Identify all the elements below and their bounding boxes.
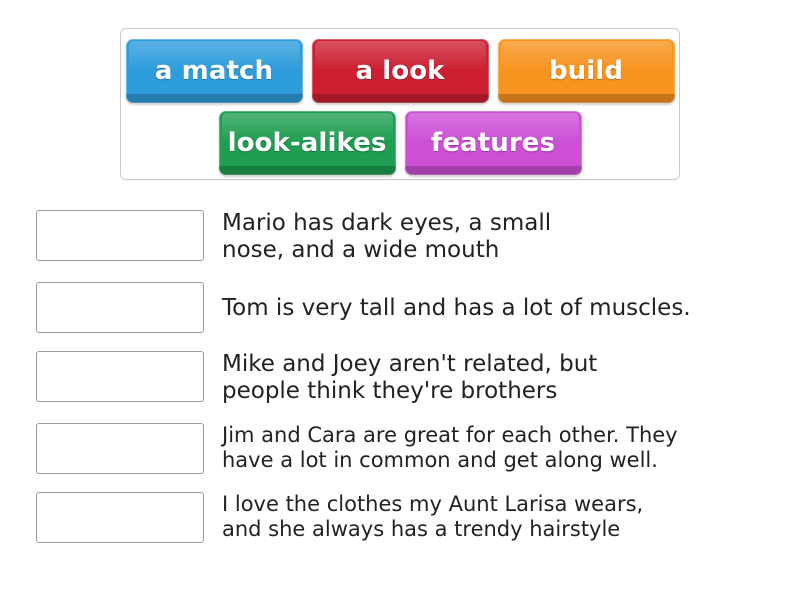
question-row: Mike and Joey aren't related, but people… (36, 351, 786, 405)
question-text-2: Tom is very tall and has a lot of muscle… (222, 282, 786, 322)
answer-dropzone-2[interactable] (36, 282, 204, 333)
question-row: Tom is very tall and has a lot of muscle… (36, 282, 786, 333)
activity-stage: a match a look build look-alikes feature… (0, 0, 800, 600)
draggable-tile-look-alikes[interactable]: look-alikes (219, 111, 396, 175)
answer-dropzone-1[interactable] (36, 210, 204, 261)
question-row: I love the clothes my Aunt Larisa wears,… (36, 492, 786, 543)
tile-tray-row-1: a match a look build (121, 29, 679, 103)
question-text-4: Jim and Cara are great for each other. T… (222, 423, 786, 473)
question-text-5: I love the clothes my Aunt Larisa wears,… (222, 492, 786, 542)
draggable-tile-build[interactable]: build (498, 39, 675, 103)
question-list: Mario has dark eyes, a small nose, and a… (36, 210, 786, 561)
answer-tile-tray: a match a look build look-alikes feature… (120, 28, 680, 180)
question-text-3: Mike and Joey aren't related, but people… (222, 351, 786, 405)
tile-label: features (431, 130, 555, 156)
tile-tray-row-2: look-alikes features (121, 103, 679, 175)
tile-label: a match (155, 58, 273, 84)
answer-dropzone-3[interactable] (36, 351, 204, 402)
draggable-tile-a-look[interactable]: a look (312, 39, 489, 103)
question-text-1: Mario has dark eyes, a small nose, and a… (222, 210, 786, 264)
tile-label: look-alikes (228, 130, 387, 156)
draggable-tile-features[interactable]: features (405, 111, 582, 175)
tile-label: build (549, 58, 623, 84)
question-row: Jim and Cara are great for each other. T… (36, 423, 786, 474)
tile-label: a look (355, 58, 444, 84)
answer-dropzone-5[interactable] (36, 492, 204, 543)
answer-dropzone-4[interactable] (36, 423, 204, 474)
question-row: Mario has dark eyes, a small nose, and a… (36, 210, 786, 264)
draggable-tile-a-match[interactable]: a match (126, 39, 303, 103)
